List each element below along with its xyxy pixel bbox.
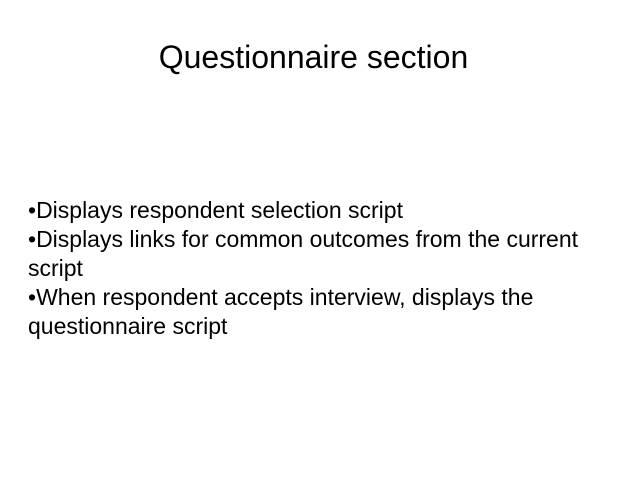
list-item: •Displays respondent selection script [28,196,612,225]
list-item: •Displays links for common outcomes from… [28,225,612,283]
slide: Questionnaire section •Displays responde… [0,0,640,480]
bullet-list: •Displays respondent selection script •D… [28,196,612,341]
list-item-label: Displays respondent selection script [36,197,403,223]
bullet-icon: • [28,284,36,310]
bullet-icon: • [28,226,36,252]
bullet-icon: • [28,197,36,223]
list-item-label: When respondent accepts interview, displ… [28,284,533,339]
list-item: •When respondent accepts interview, disp… [28,283,612,341]
list-item-label: Displays links for common outcomes from … [28,226,578,281]
page-title: Questionnaire section [32,38,595,76]
